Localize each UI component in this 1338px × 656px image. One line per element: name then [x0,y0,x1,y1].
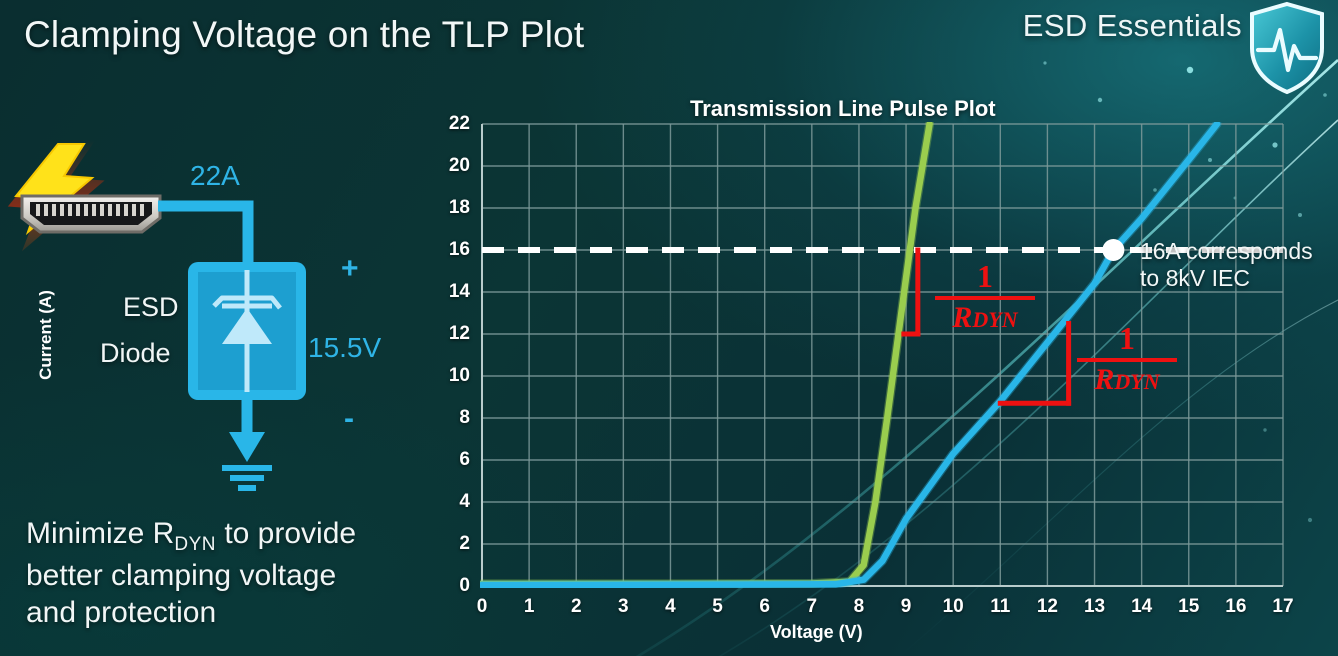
chart-x-tick: 12 [1032,596,1062,618]
chart-y-tick: 18 [430,197,470,219]
chart-x-tick: 4 [655,596,685,618]
chart-x-tick: 3 [608,596,638,618]
chart-y-tick: 0 [430,575,470,597]
operating-point-annotation-line1: 16A corresponds [1140,238,1313,265]
slope-label-green-denominator: RDYN [935,301,1035,335]
slope-label-green: 1 RDYN [935,258,1035,335]
chart-y-tick: 22 [430,113,470,135]
chart-y-tick: 6 [430,449,470,471]
chart-x-tick: 5 [703,596,733,618]
slope-label-green-numerator: 1 [935,258,1035,295]
chart-x-tick: 9 [891,596,921,618]
chart-x-tick: 6 [750,596,780,618]
chart-y-tick: 12 [430,323,470,345]
chart-y-tick: 4 [430,491,470,513]
chart-y-tick: 16 [430,239,470,261]
chart-y-tick: 2 [430,533,470,555]
slope-label-blue: 1 RDYN [1077,320,1177,397]
slope-label-blue-denominator: RDYN [1077,363,1177,397]
slope-label-green-fraction-bar [935,296,1035,300]
slope-label-blue-numerator: 1 [1077,320,1177,357]
chart-x-tick: 17 [1268,596,1298,618]
tlp-chart: Transmission Line Pulse Plot Current (A)… [0,0,1338,656]
chart-y-tick: 14 [430,281,470,303]
chart-x-tick: 7 [797,596,827,618]
chart-x-tick: 10 [938,596,968,618]
chart-x-tick: 11 [985,596,1015,618]
chart-y-tick: 10 [430,365,470,387]
chart-x-tick: 0 [467,596,497,618]
chart-x-tick: 1 [514,596,544,618]
operating-point-annotation-line2: to 8kV IEC [1140,265,1313,292]
chart-series [482,124,930,584]
slide-canvas: Clamping Voltage on the TLP Plot ESD Ess… [0,0,1338,656]
chart-x-tick: 16 [1221,596,1251,618]
chart-y-tick: 8 [430,407,470,429]
chart-x-tick: 8 [844,596,874,618]
operating-point-annotation: 16A corresponds to 8kV IEC [1140,238,1313,292]
chart-y-tick: 20 [430,155,470,177]
chart-x-tick: 2 [561,596,591,618]
chart-x-tick: 13 [1080,596,1110,618]
operating-point-marker [1102,239,1124,261]
slope-label-blue-fraction-bar [1077,358,1177,362]
chart-x-tick: 15 [1174,596,1204,618]
chart-x-tick: 14 [1127,596,1157,618]
